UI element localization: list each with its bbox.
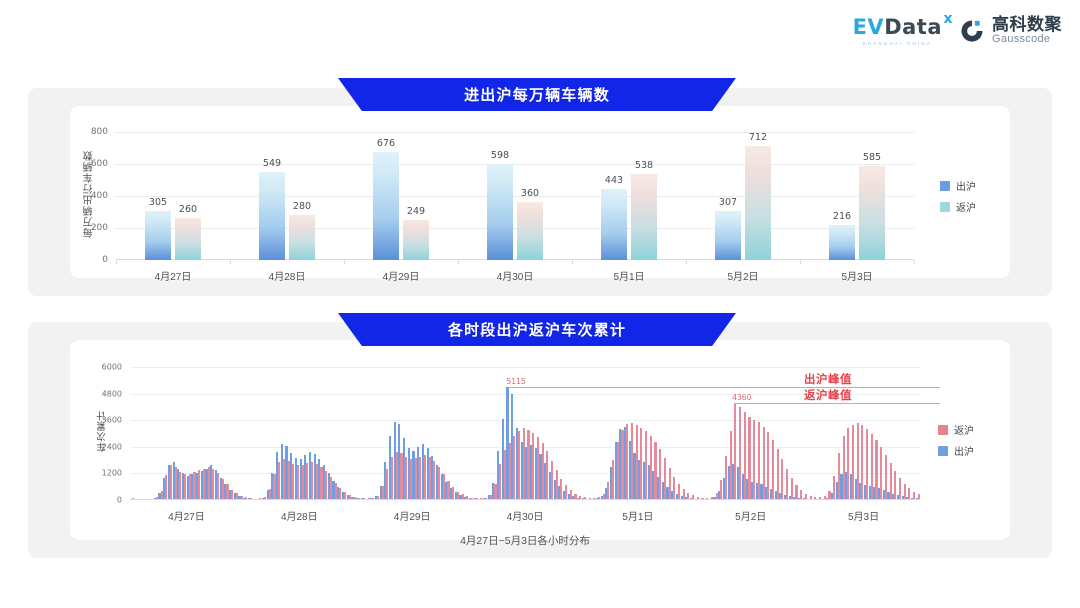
chart1-bar-value-label: 249 — [407, 206, 425, 217]
chart1-bar-value-label: 712 — [749, 132, 767, 143]
chart1-bar-out[interactable]: 598 — [487, 132, 513, 260]
evdata-wordmark: EVData x — [853, 17, 942, 38]
chart2-peak-value-label: 4360 — [732, 393, 751, 402]
chart1-bar-out[interactable]: 307 — [715, 132, 741, 260]
chart1-bar-ret[interactable]: 360 — [517, 132, 543, 260]
chart1-bar-value-label: 216 — [833, 211, 851, 222]
chart1-bar-rect[interactable] — [631, 174, 657, 260]
chart1-bar-rect[interactable] — [487, 164, 513, 260]
chart1-bar-rect[interactable] — [601, 189, 627, 260]
chart1-bar-value-label: 260 — [179, 204, 197, 215]
chart1-bar-ret[interactable]: 585 — [859, 132, 885, 260]
evdata-tagline: SHANGHAI CHINA — [863, 41, 933, 46]
chart2-peak-value-label: 5115 — [507, 377, 526, 386]
gausscode-name-cn: 高科数聚 — [992, 16, 1062, 34]
chart2-plot-area: 0120024003600480060004月27日4月28日4月29日4月30… — [130, 367, 920, 500]
chart1-x-tick-label: 4月27日 — [155, 268, 192, 283]
chart1-x-tick — [116, 260, 117, 264]
chart2-peak-line — [734, 403, 940, 404]
chart1-x-tick-label: 4月30日 — [497, 268, 534, 283]
chart1-y-tick-label: 0 — [102, 255, 108, 265]
chart2-legend: 返沪出沪 — [938, 422, 974, 458]
chart2-legend-item[interactable]: 出沪 — [938, 443, 974, 458]
chart1-bar-value-label: 305 — [149, 197, 167, 208]
chart1-legend-item[interactable]: 返沪 — [940, 199, 976, 214]
banner-title-hourly: 各时段出沪返沪车次累计 — [338, 313, 736, 346]
chart2-y-tick-label: 1200 — [102, 469, 122, 478]
chart1-bar-rect[interactable] — [517, 202, 543, 260]
chart1-y-tick-label: 200 — [91, 223, 108, 233]
chart2-legend-swatch-icon — [938, 446, 948, 456]
chart1-legend-label: 返沪 — [956, 199, 976, 214]
chart1-bar-out[interactable]: 443 — [601, 132, 627, 260]
chart1-x-tick — [914, 260, 915, 264]
chart1-bar-value-label: 307 — [719, 197, 737, 208]
gausscode-mark-icon — [959, 18, 985, 44]
chart1-x-tick — [686, 260, 687, 264]
gausscode-logo: 高科数聚 Gausscode — [959, 16, 1062, 45]
chart1-y-tick-label: 400 — [91, 191, 108, 201]
chart1-bar-rect[interactable] — [289, 215, 315, 260]
chart1-x-tick-label: 4月28日 — [269, 268, 306, 283]
chart1-bar-rect[interactable] — [745, 146, 771, 260]
chart1-bar-group[interactable]: 307712 — [714, 132, 772, 260]
chart2-y-tick-label: 4800 — [102, 389, 122, 398]
chart2-y-tick-label: 2400 — [102, 442, 122, 451]
chart1-bar-value-label: 280 — [293, 201, 311, 212]
brand-header: EVData x SHANGHAI CHINA 高科数聚 Gausscode — [0, 0, 1080, 62]
chart1-x-tick-label: 5月1日 — [613, 268, 644, 283]
chart1-x-tick — [458, 260, 459, 264]
chart2-x-tick-label: 4月28日 — [281, 508, 318, 523]
chart2-x-tick-label: 4月30日 — [507, 508, 544, 523]
chart1-bar-rect[interactable] — [859, 166, 885, 260]
chart2-x-tick-label: 5月3日 — [848, 508, 879, 523]
evdata-wordmark-data: Data — [884, 15, 942, 39]
chart1-bar-rect[interactable] — [259, 172, 285, 260]
chart1-bar-ret[interactable]: 538 — [631, 132, 657, 260]
chart1-bar-out[interactable]: 305 — [145, 132, 171, 260]
chart2-legend-swatch-icon — [938, 425, 948, 435]
evdata-x-icon: x — [943, 12, 953, 26]
chart2-x-tick-label: 5月1日 — [622, 508, 653, 523]
chart1-bar-out[interactable]: 549 — [259, 132, 285, 260]
chart1-y-tick-label: 800 — [91, 127, 108, 137]
chart1-bar-value-label: 538 — [635, 160, 653, 171]
chart1-bar-rect[interactable] — [829, 225, 855, 260]
chart1-plot-area: 02004006008003052604月27日5492804月28日67624… — [116, 132, 914, 260]
chart2-legend-label: 出沪 — [954, 443, 974, 458]
chart1-legend-label: 出沪 — [956, 178, 976, 193]
chart1-x-tick-label: 5月3日 — [841, 268, 872, 283]
chart1-bar-rect[interactable] — [403, 220, 429, 260]
chart1-bar-value-label: 598 — [491, 150, 509, 161]
chart1-bar-group[interactable]: 549280 — [258, 132, 316, 260]
chart1-legend-item[interactable]: 出沪 — [940, 178, 976, 193]
chart2-legend-item[interactable]: 返沪 — [938, 422, 974, 437]
chart2-peak-line — [509, 387, 940, 388]
chart1-bar-value-label: 360 — [521, 188, 539, 199]
chart1-legend-swatch-icon — [940, 181, 950, 191]
chart2-x-tick-label: 5月2日 — [735, 508, 766, 523]
chart1-y-tick-label: 600 — [91, 159, 108, 169]
chart1-bar-rect[interactable] — [373, 152, 399, 260]
chart1-bar-group[interactable]: 676249 — [372, 132, 430, 260]
banner-title-daily: 进出沪每万辆车辆数 — [338, 78, 736, 111]
chart2-legend-label: 返沪 — [954, 422, 974, 437]
chart2-y-tick-label: 3600 — [102, 416, 122, 425]
gausscode-text: 高科数聚 Gausscode — [992, 16, 1062, 45]
chart2-caption: 4月27日~5月3日各小时分布 — [130, 533, 920, 548]
chart2-y-tick-label: 6000 — [102, 363, 122, 372]
chart1-bar-ret[interactable]: 280 — [289, 132, 315, 260]
chart1-x-tick-label: 4月29日 — [383, 268, 420, 283]
chart1-bar-out[interactable]: 216 — [829, 132, 855, 260]
chart1-bar-group[interactable]: 598360 — [486, 132, 544, 260]
evdata-logo: EVData x SHANGHAI CHINA — [853, 17, 942, 46]
chart2-x-tick-label: 4月27日 — [168, 508, 205, 523]
chart1-bar-value-label: 676 — [377, 138, 395, 149]
chart1-legend: 出沪返沪 — [940, 178, 976, 214]
chart1-bar-group[interactable]: 305260 — [144, 132, 202, 260]
chart1-bar-ret[interactable]: 249 — [403, 132, 429, 260]
chart1-x-tick — [230, 260, 231, 264]
chart1-x-tick — [800, 260, 801, 264]
chart2-x-tick-label: 4月29日 — [394, 508, 431, 523]
chart1-x-tick-label: 5月2日 — [727, 268, 758, 283]
chart2-y-tick-label: 0 — [117, 496, 122, 505]
chart1-bar-group[interactable]: 443538 — [600, 132, 658, 260]
chart1-x-tick — [344, 260, 345, 264]
chart2-peak-text-label: 返沪峰值 — [804, 387, 852, 403]
evdata-wordmark-ev: EV — [853, 15, 885, 39]
chart1-x-tick — [572, 260, 573, 264]
gausscode-name-en: Gausscode — [992, 34, 1062, 46]
chart1-bar-group[interactable]: 216585 — [828, 132, 886, 260]
chart1-bar-out[interactable]: 676 — [373, 132, 399, 260]
chart1-bar-rect[interactable] — [715, 211, 741, 260]
chart1-legend-swatch-icon — [940, 202, 950, 212]
chart1-bar-ret[interactable]: 712 — [745, 132, 771, 260]
chart1-bar-ret[interactable]: 260 — [175, 132, 201, 260]
chart1-bar-value-label: 443 — [605, 175, 623, 186]
chart1-bar-rect[interactable] — [145, 211, 171, 260]
chart1-bar-rect[interactable] — [175, 218, 201, 260]
chart1-bar-value-label: 585 — [863, 152, 881, 163]
chart2-baseline — [130, 499, 920, 500]
chart1-bar-value-label: 549 — [263, 158, 281, 169]
chart2-peak-text-label: 出沪峰值 — [804, 371, 852, 387]
